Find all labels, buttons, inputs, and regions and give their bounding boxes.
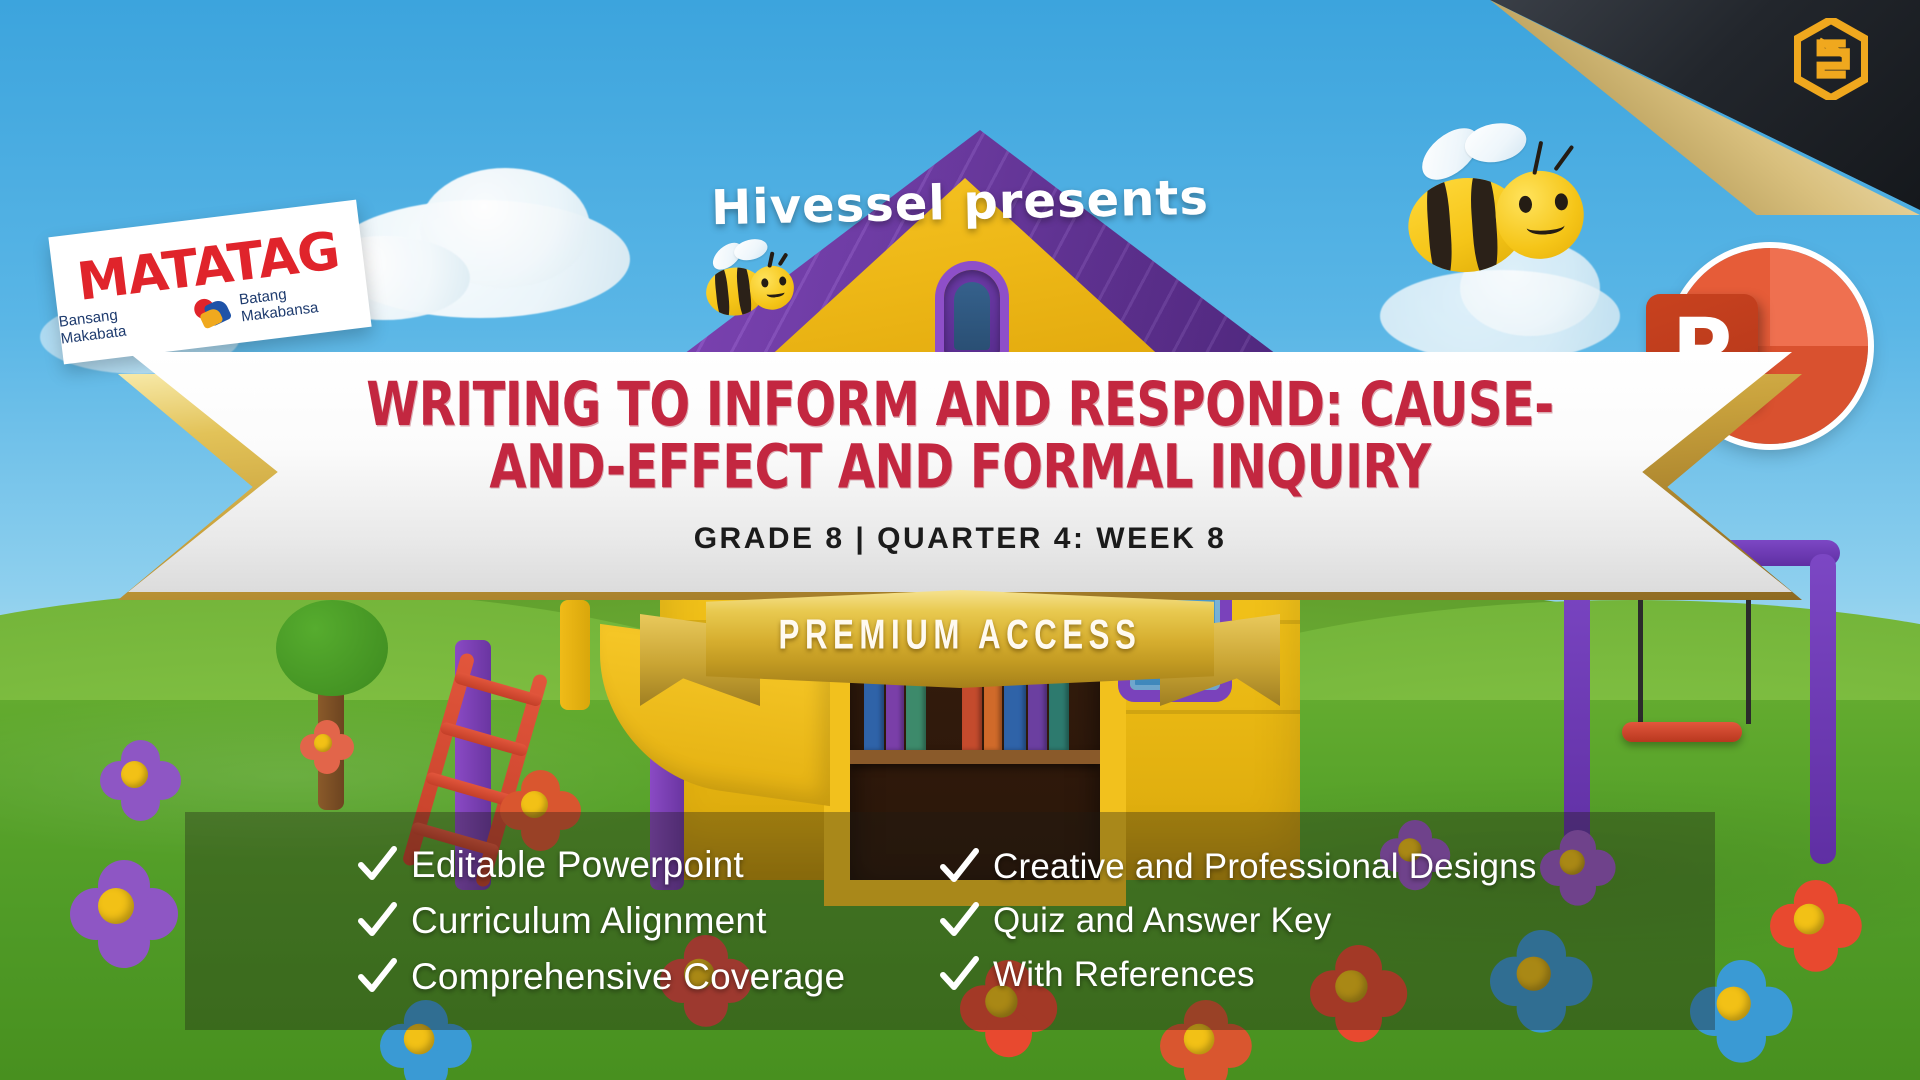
premium-access-banner: PREMIUM ACCESS bbox=[640, 590, 1280, 710]
feature-label: Quiz and Answer Key bbox=[993, 901, 1331, 941]
feature-item: Editable Powerpoint bbox=[357, 844, 865, 886]
attic-window-glass bbox=[954, 282, 990, 350]
bee-icon bbox=[696, 245, 804, 335]
feature-label: Comprehensive Coverage bbox=[411, 956, 845, 998]
check-icon bbox=[357, 845, 397, 885]
page-title-line2: and-Effect and Formal Inquiry bbox=[326, 436, 1593, 498]
feature-item: Creative and Professional Designs bbox=[939, 847, 1705, 887]
page-title-line1: Writing to Inform and Respond: Cause- bbox=[326, 374, 1593, 436]
page-subtitle: GRADE 8 | QUARTER 4: WEEK 8 bbox=[0, 522, 1920, 556]
features-panel: Editable Powerpoint Curriculum Alignment… bbox=[185, 812, 1715, 1030]
feature-item: With References bbox=[939, 955, 1705, 995]
matatag-tagline-left: Bansang Makabata bbox=[58, 298, 189, 347]
feature-label: With References bbox=[993, 955, 1255, 995]
check-icon bbox=[939, 955, 979, 995]
feature-item: Quiz and Answer Key bbox=[939, 901, 1705, 941]
feature-item: Comprehensive Coverage bbox=[357, 956, 865, 998]
title-ribbon: Writing to Inform and Respond: Cause- an… bbox=[0, 352, 1920, 622]
check-icon bbox=[939, 901, 979, 941]
premium-banner-body: PREMIUM ACCESS bbox=[706, 590, 1214, 688]
check-icon bbox=[939, 847, 979, 887]
feature-item: Curriculum Alignment bbox=[357, 900, 865, 942]
feature-label: Editable Powerpoint bbox=[411, 844, 744, 886]
features-column-right: Creative and Professional Designs Quiz a… bbox=[865, 812, 1705, 1030]
feature-label: Curriculum Alignment bbox=[411, 900, 767, 942]
hexagon-s-logo-icon bbox=[1794, 18, 1868, 100]
feature-label: Creative and Professional Designs bbox=[993, 847, 1537, 887]
check-icon bbox=[357, 957, 397, 997]
page-title: Writing to Inform and Respond: Cause- an… bbox=[326, 374, 1593, 498]
promo-banner: Hivessel presents MATATAG Bansang Makaba… bbox=[0, 0, 1920, 1080]
clasped-hands-heart-icon bbox=[191, 295, 236, 328]
premium-access-label: PREMIUM ACCESS bbox=[726, 612, 1193, 660]
features-column-left: Editable Powerpoint Curriculum Alignment… bbox=[185, 812, 865, 1030]
check-icon bbox=[357, 901, 397, 941]
